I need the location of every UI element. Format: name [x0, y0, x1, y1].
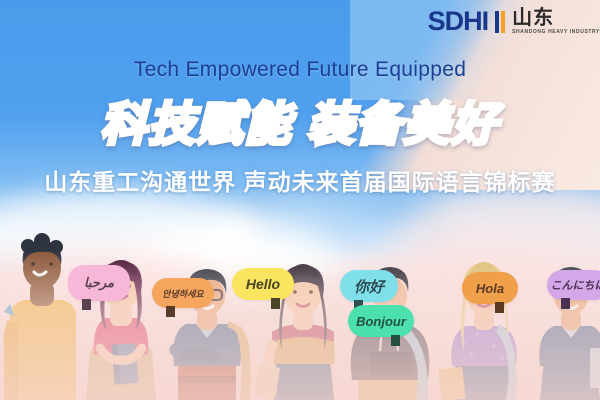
- people-illustration: [0, 220, 600, 400]
- speech-bubble-french: Bonjour: [348, 305, 414, 337]
- person-1: [4, 233, 77, 400]
- speech-bubble-text: 안녕하세요: [162, 287, 203, 300]
- sdhi-logo: SDHI 山东 SHANDONG HEAVY INDUSTRY: [428, 8, 600, 35]
- speech-bubble-text: Bonjour: [356, 314, 406, 329]
- language-championship-banner: SDHI 山东 SHANDONG HEAVY INDUSTRY Tech Emp…: [0, 0, 600, 400]
- logo-wordmark: SDHI: [428, 8, 489, 35]
- speech-bubble-text: 你好: [354, 276, 384, 297]
- main-headline: 科技赋能 装备美好: [0, 88, 600, 154]
- speech-bubble-english: Hello: [232, 268, 294, 300]
- speech-bubble-text: Hola: [476, 281, 504, 296]
- speech-bubble-text: Hello: [246, 276, 280, 292]
- people-svg: [0, 220, 600, 400]
- event-subtitle: 山东重工沟通世界 声动未来首届国际语言锦标赛: [0, 163, 600, 197]
- speech-bubble-japanese: こんにちは: [547, 270, 600, 300]
- speech-bubble-text: مرحبا: [84, 275, 114, 291]
- logo-chinese-block: 山东 SHANDONG HEAVY INDUSTRY: [512, 8, 600, 35]
- logo-divider-bars: [495, 11, 505, 33]
- speech-bubble-chinese: 你好: [340, 270, 398, 302]
- logo-chinese-name: 山东: [512, 8, 600, 28]
- speech-bubble-text: こんにちは: [551, 277, 600, 293]
- english-tagline: Tech Empowered Future Equipped: [0, 58, 600, 82]
- speech-bubble-arabic: مرحبا: [68, 265, 130, 301]
- main-headline-text: 科技赋能 装备美好: [101, 88, 500, 154]
- speech-bubble-spanish: Hola: [462, 272, 518, 304]
- speech-bubble-korean: 안녕하세요: [152, 278, 214, 308]
- logo-english-sub: SHANDONG HEAVY INDUSTRY: [512, 30, 600, 35]
